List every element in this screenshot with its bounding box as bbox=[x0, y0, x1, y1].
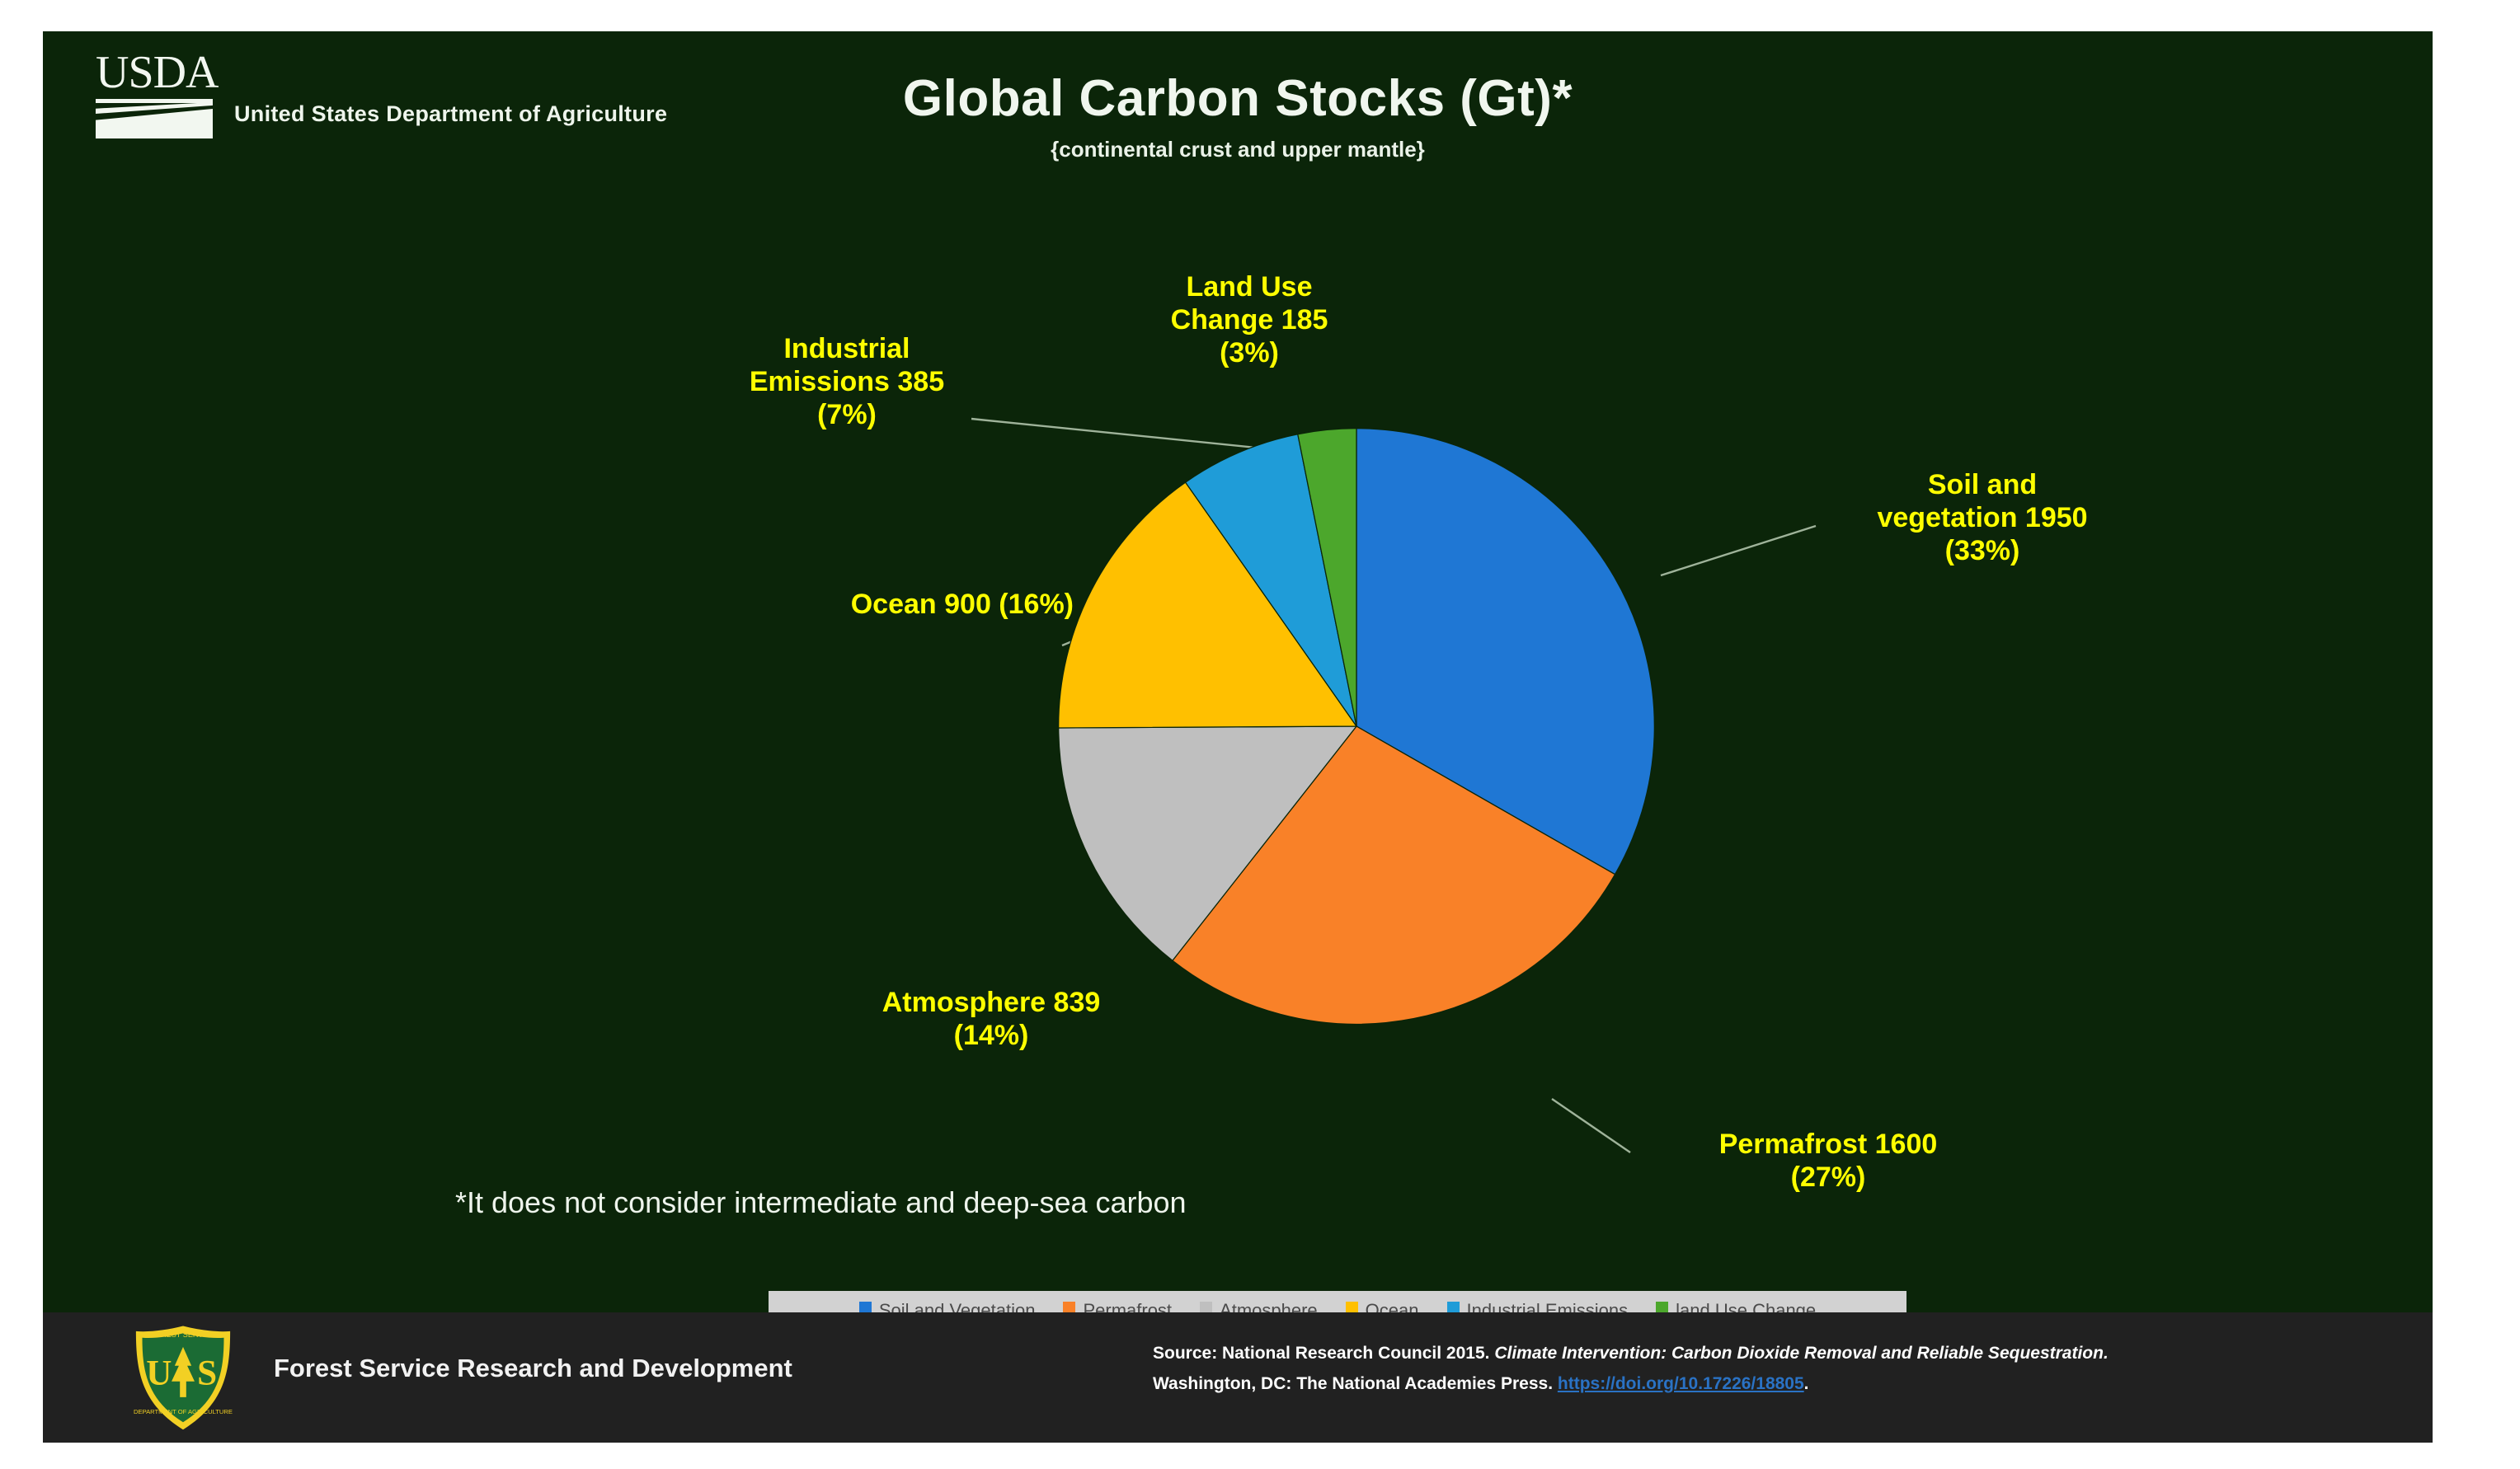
pie-graphic bbox=[1055, 425, 1657, 1027]
callout-land-use-change: Land Use Change 185 (3%) bbox=[1146, 270, 1352, 369]
source-citation: Source: National Research Council 2015. … bbox=[1153, 1339, 2109, 1400]
slide-canvas: USDA United States Department of Agricul… bbox=[43, 31, 2433, 1443]
pie-chart: Land Use Change 185 (3%) Industrial Emis… bbox=[43, 31, 2433, 1443]
svg-text:S: S bbox=[197, 1354, 217, 1393]
svg-text:FOREST SERVICE: FOREST SERVICE bbox=[150, 1331, 215, 1339]
svg-text:U: U bbox=[146, 1354, 172, 1393]
source-prefix: Source: National Research Council 2015. bbox=[1153, 1344, 1494, 1363]
source-period: . bbox=[1804, 1374, 1809, 1393]
footnote: *It does not consider intermediate and d… bbox=[455, 1185, 1187, 1220]
source-line-1: Source: National Research Council 2015. … bbox=[1153, 1339, 2109, 1369]
callout-industrial-emissions: Industrial Emissions 385 (7%) bbox=[711, 332, 983, 431]
slide-footer: FOREST SERVICE U S DEPARTMENT OF AGRICUL… bbox=[43, 1312, 2433, 1443]
forest-service-name: Forest Service Research and Development bbox=[274, 1354, 792, 1383]
forest-service-shield-icon: FOREST SERVICE U S DEPARTMENT OF AGRICUL… bbox=[130, 1324, 236, 1433]
doi-link[interactable]: https://doi.org/10.17226/18805 bbox=[1558, 1374, 1804, 1393]
callout-atmosphere: Atmosphere 839 (14%) bbox=[826, 986, 1156, 1052]
source-title: Climate Intervention: Carbon Dioxide Rem… bbox=[1494, 1344, 2109, 1363]
source-line-2: Washington, DC: The National Academies P… bbox=[1153, 1369, 2109, 1400]
callout-permafrost: Permafrost 1600 (27%) bbox=[1634, 1128, 2022, 1194]
publisher: Washington, DC: The National Academies P… bbox=[1153, 1374, 1558, 1393]
svg-text:DEPARTMENT OF AGRICULTURE: DEPARTMENT OF AGRICULTURE bbox=[134, 1408, 233, 1415]
pie-slices bbox=[1055, 425, 1657, 1027]
callout-ocean: Ocean 900 (16%) bbox=[752, 588, 1074, 621]
callout-soil-and-vegetation: Soil and vegetation 1950 (33%) bbox=[1834, 468, 2131, 567]
